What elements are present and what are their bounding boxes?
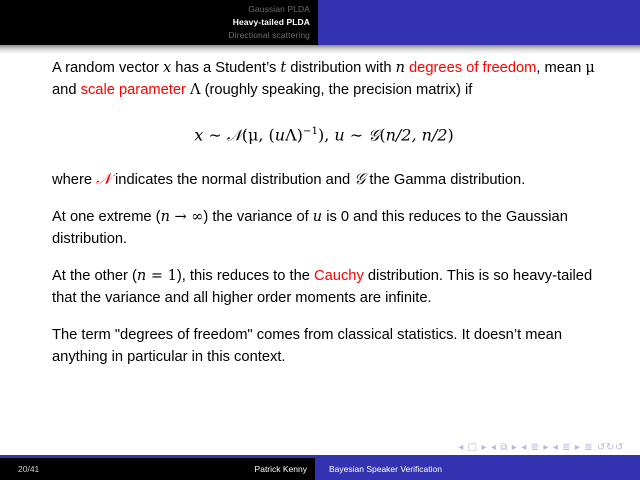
eq-superscript: −1	[303, 125, 318, 137]
eq-args: n/2, n/2	[386, 125, 448, 144]
paragraph-gaussian-limit: At one extreme (n → ∞) the variance of u…	[52, 207, 596, 250]
page-number: 20/41	[18, 458, 39, 480]
text-fragment: distribution with	[286, 60, 395, 76]
text-fragment: ), this reduces to the	[177, 268, 314, 284]
paragraph-definition: A random vector x has a Student’s t dist…	[52, 58, 596, 101]
eq-sim-1: ∼	[203, 125, 227, 144]
equation-student-t: x ∼ 𝒩(μ, (uΛ)−1), u ∼ 𝒢(n/2, n/2)	[52, 121, 596, 147]
eq-lhs-x: x	[194, 125, 203, 144]
text-fragment: At the other (	[52, 268, 137, 284]
paragraph-cauchy-limit: At the other (n = 1), this reduces to th…	[52, 266, 596, 309]
eq-cal-g: 𝒢	[368, 126, 379, 144]
nav-item-directional-scattering[interactable]: Directional scattering	[228, 29, 310, 42]
text-fragment: , mean	[536, 60, 585, 76]
eq-cal-n: 𝒩	[227, 126, 242, 144]
math-symbol-mu: μ	[585, 60, 594, 76]
paragraph-notation: where 𝒩 indicates the normal distributio…	[52, 169, 596, 192]
paragraph-terminology-note: The term "degrees of freedom" comes from…	[52, 325, 596, 368]
text-fragment: and	[52, 82, 81, 98]
eq-close-1: ),	[318, 125, 334, 144]
slide-footer: 20/41 Patrick Kenny Bayesian Speaker Ver…	[0, 458, 640, 480]
highlight-scale-parameter: scale parameter	[81, 82, 186, 98]
math-var-u: u	[313, 209, 322, 225]
beamer-navigation-symbols[interactable]: ◂ □ ▸ ◂ ⧉ ▸ ◂ ≣ ▸ ◂ ≣ ▸ ≣ ↺↻↺	[418, 441, 624, 454]
highlight-cauchy: Cauchy	[314, 268, 364, 284]
eq-mu: μ	[248, 125, 258, 144]
math-equals-one: = 1	[146, 268, 177, 284]
math-var-n: n	[161, 209, 170, 225]
eq-sim-2: ∼	[345, 125, 369, 144]
math-symbol-lambda: Λ	[190, 82, 200, 98]
eq-lambda: Λ	[285, 125, 297, 144]
text-fragment: A random vector	[52, 60, 163, 76]
text-fragment: ) the variance of	[203, 209, 312, 225]
eq-comma-1: , (	[258, 125, 274, 144]
eq-u-2: u	[334, 125, 344, 144]
math-var-n: n	[137, 268, 146, 284]
text-fragment: the Gamma distribution.	[365, 172, 525, 188]
eq-u-1: u	[275, 125, 285, 144]
slide-content: A random vector x has a Student’s t dist…	[0, 54, 640, 440]
highlight-degrees-of-freedom: degrees of freedom	[405, 60, 536, 76]
eq-close-2: )	[448, 125, 454, 144]
section-navigation[interactable]: Gaussian PLDA Heavy-tailed PLDA Directio…	[0, 0, 318, 45]
text-fragment: has a Student’s	[171, 60, 280, 76]
math-var-x: x	[163, 60, 171, 76]
nav-item-heavy-tailed-plda[interactable]: Heavy-tailed PLDA	[233, 16, 310, 29]
author-name: Patrick Kenny	[255, 458, 307, 480]
slide-header: Gaussian PLDA Heavy-tailed PLDA Directio…	[0, 0, 640, 45]
math-limit-infinity: → ∞	[170, 209, 203, 225]
math-var-n: n	[396, 60, 405, 76]
footer-black-panel: 20/41 Patrick Kenny	[0, 458, 315, 480]
text-fragment: (roughly speaking, the precision matrix)…	[200, 82, 472, 98]
header-shadow	[0, 45, 640, 54]
math-cal-n-red: 𝒩	[96, 170, 111, 188]
text-fragment: indicates the normal distribution and	[111, 172, 354, 188]
math-cal-g: 𝒢	[354, 170, 365, 188]
text-fragment: where	[52, 172, 96, 188]
nav-item-gaussian-plda[interactable]: Gaussian PLDA	[248, 3, 310, 16]
text-fragment: At one extreme (	[52, 209, 161, 225]
presentation-title: Bayesian Speaker Verification	[329, 458, 442, 480]
text-fragment: The term "degrees of freedom" comes from…	[52, 327, 562, 365]
